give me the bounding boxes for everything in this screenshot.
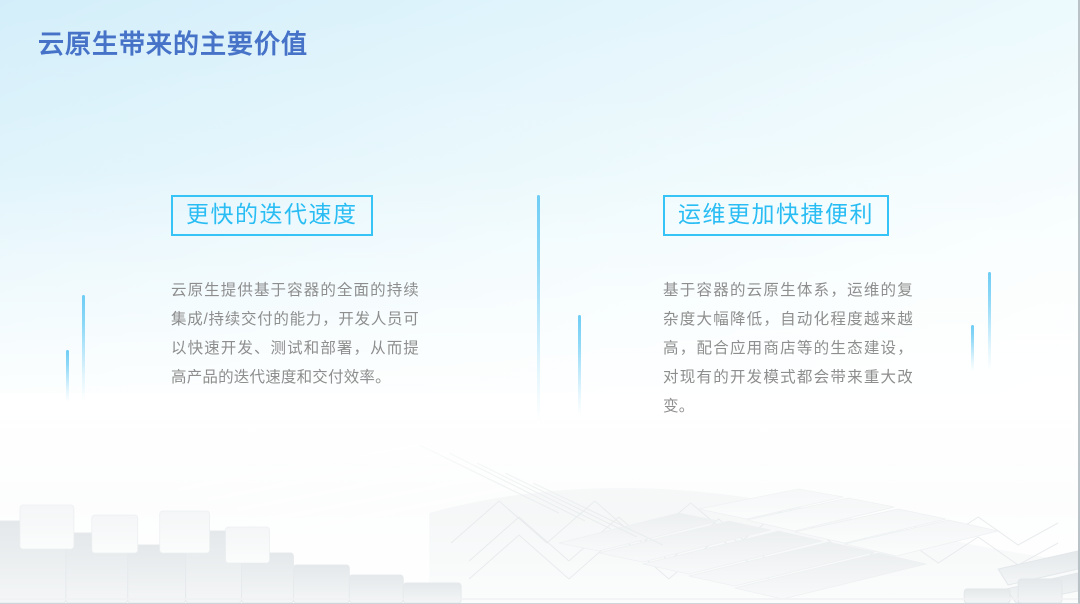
value-columns: 更快的迭代速度 云原生提供基于容器的全面的持续集成/持续交付的能力，开发人员可以… [0,0,1080,604]
value-body-faster-iteration: 云原生提供基于容器的全面的持续集成/持续交付的能力，开发人员可以快速开发、测试和… [171,276,419,392]
value-heading-easier-operations: 运维更加快捷便利 [663,195,889,236]
value-body-easier-operations: 基于容器的云原生体系，运维的复杂度大幅降低，自动化程度越来越高，配合应用商店等的… [663,276,913,421]
slide: 云原生带来的主要价值 更快的迭代速度 云原生提供基于容器的全面的持续集成/持续交… [0,0,1080,604]
value-column-easier-operations: 运维更加快捷便利 基于容器的云原生体系，运维的复杂度大幅降低，自动化程度越来越高… [663,195,915,437]
value-heading-faster-iteration: 更快的迭代速度 [171,195,373,236]
value-column-faster-iteration: 更快的迭代速度 云原生提供基于容器的全面的持续集成/持续交付的能力，开发人员可以… [171,195,423,408]
